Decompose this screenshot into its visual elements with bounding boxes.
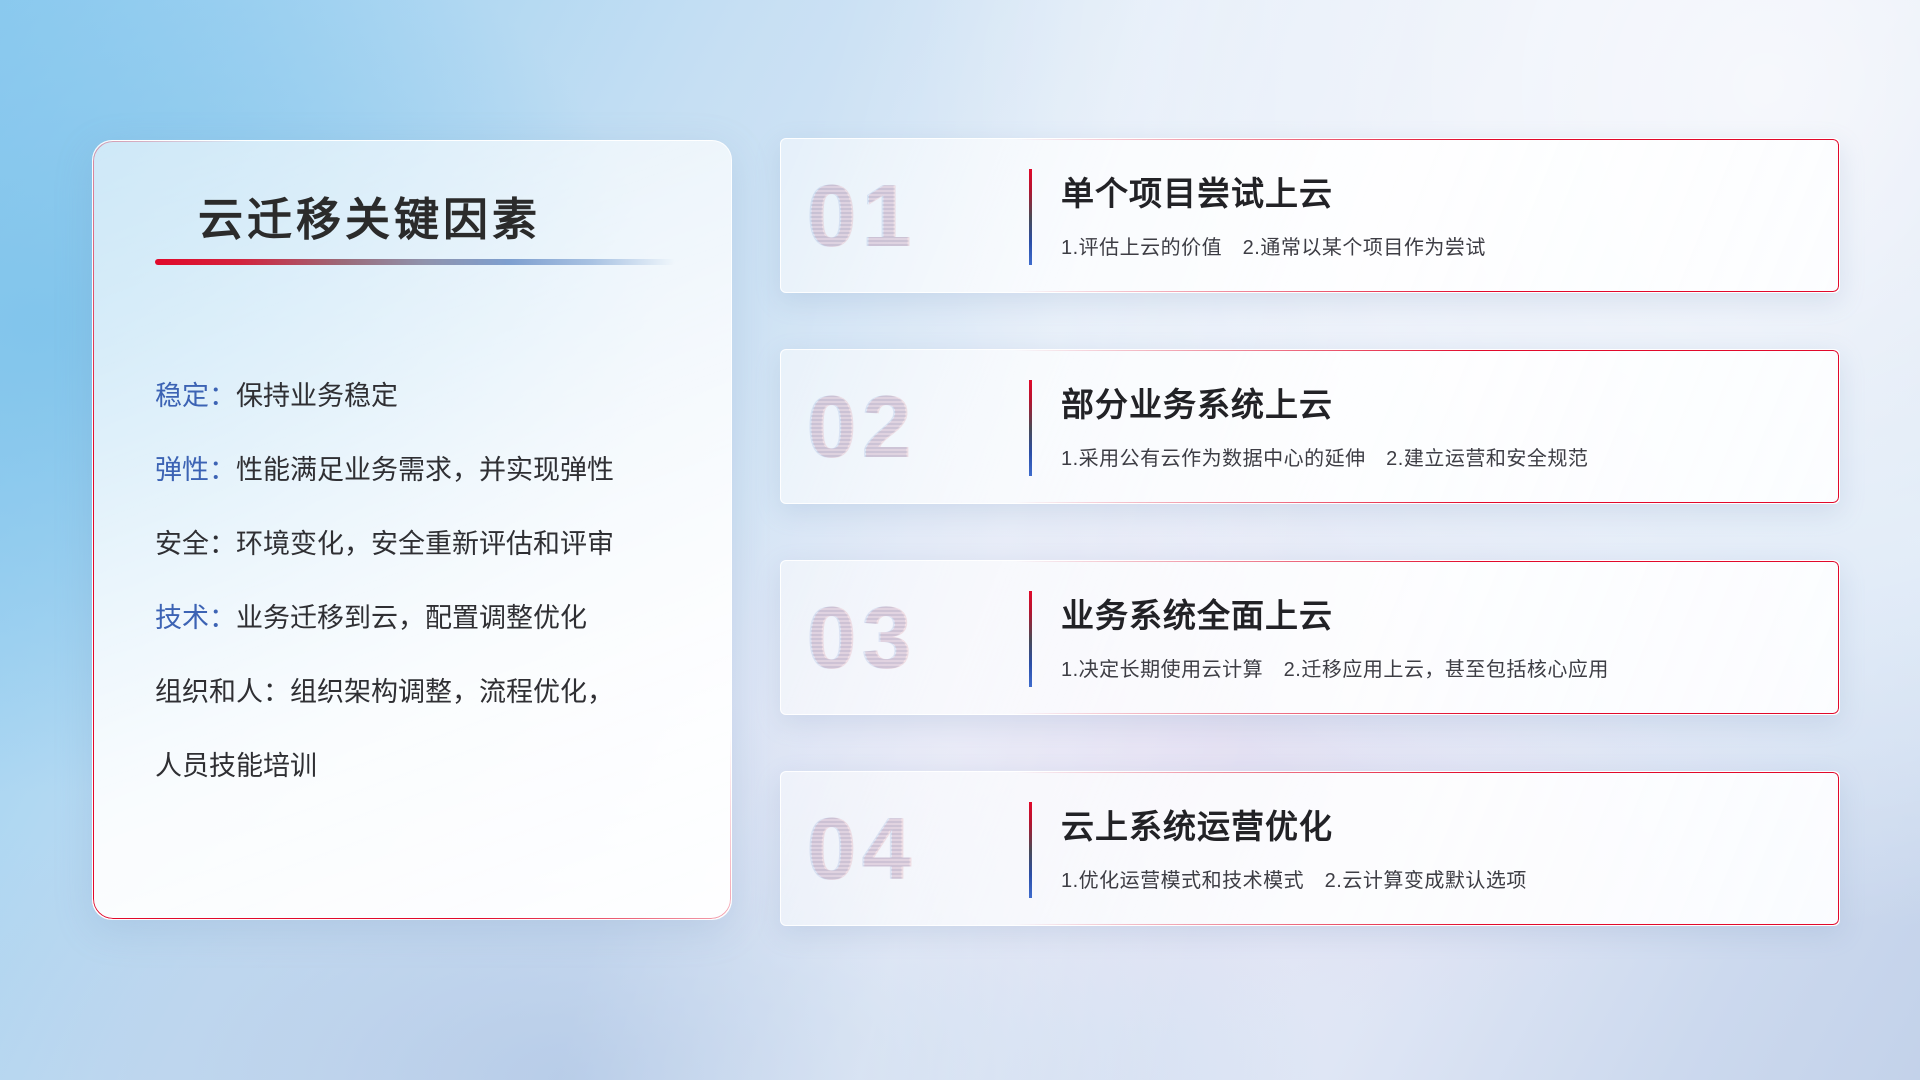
stage-number: 04 <box>807 805 917 893</box>
card-description: 1.评估上云的价值 2.通常以某个项目作为尝试 <box>1061 231 1813 260</box>
card-title: 部分业务系统上云 <box>1061 378 1813 426</box>
card-description: 1.优化运营模式和技术模式 2.云计算变成默认选项 <box>1061 864 1813 893</box>
key-factors-panel: 云迁移关键因素 稳定：保持业务稳定 弹性：性能满足业务需求，并实现弹性 安全：环… <box>92 140 732 920</box>
list-item: 组织和人：组织架构调整，流程优化， <box>155 655 697 729</box>
list-item: 稳定：保持业务稳定 <box>155 359 697 433</box>
card-body: 单个项目尝试上云 1.评估上云的价值 2.通常以某个项目作为尝试 <box>1061 167 1813 260</box>
factor-text: 保持业务稳定 <box>236 381 398 411</box>
card-divider <box>1029 802 1032 898</box>
slide-canvas: 云迁移关键因素 稳定：保持业务稳定 弹性：性能满足业务需求，并实现弹性 安全：环… <box>0 0 1920 1080</box>
card-body: 云上系统运营优化 1.优化运营模式和技术模式 2.云计算变成默认选项 <box>1061 800 1813 893</box>
card-title: 单个项目尝试上云 <box>1061 167 1813 215</box>
factor-label: 弹性： <box>155 455 236 485</box>
card-divider <box>1029 591 1032 687</box>
factor-text: 业务迁移到云，配置调整优化 <box>236 603 587 633</box>
card-title: 云上系统运营优化 <box>1061 800 1813 848</box>
stage-number: 01 <box>807 172 917 260</box>
factor-label: 组织和人： <box>155 677 290 707</box>
card-title: 业务系统全面上云 <box>1061 589 1813 637</box>
factor-label: 技术： <box>155 603 236 633</box>
factor-text: 环境变化，安全重新评估和评审 <box>236 529 614 559</box>
migration-stage-card-list: 01 01 单个项目尝试上云 1.评估上云的价值 2.通常以某个项目作为尝试 0… <box>780 138 1840 982</box>
card-divider <box>1029 169 1032 265</box>
factor-label: 安全： <box>155 529 236 559</box>
card-description: 1.决定长期使用云计算 2.迁移应用上云，甚至包括核心应用 <box>1061 653 1813 682</box>
list-item: 技术：业务迁移到云，配置调整优化 <box>155 581 697 655</box>
list-item[interactable]: 02 02 部分业务系统上云 1.采用公有云作为数据中心的延伸 2.建立运营和安… <box>780 349 1840 504</box>
list-item[interactable]: 01 01 单个项目尝试上云 1.评估上云的价值 2.通常以某个项目作为尝试 <box>780 138 1840 293</box>
card-description: 1.采用公有云作为数据中心的延伸 2.建立运营和安全规范 <box>1061 442 1813 471</box>
factor-text: 人员技能培训 <box>155 751 317 781</box>
list-item: 人员技能培训 <box>155 729 697 803</box>
factor-text: 组织架构调整，流程优化， <box>290 677 614 707</box>
list-item[interactable]: 03 03 业务系统全面上云 1.决定长期使用云计算 2.迁移应用上云，甚至包括… <box>780 560 1840 715</box>
factor-list: 稳定：保持业务稳定 弹性：性能满足业务需求，并实现弹性 安全：环境变化，安全重新… <box>155 359 697 803</box>
page-title: 云迁移关键因素 <box>198 183 541 248</box>
factor-text: 性能满足业务需求，并实现弹性 <box>236 455 614 485</box>
list-item[interactable]: 04 04 云上系统运营优化 1.优化运营模式和技术模式 2.云计算变成默认选项 <box>780 771 1840 926</box>
card-body: 部分业务系统上云 1.采用公有云作为数据中心的延伸 2.建立运营和安全规范 <box>1061 378 1813 471</box>
factor-label: 稳定： <box>155 381 236 411</box>
list-item: 弹性：性能满足业务需求，并实现弹性 <box>155 433 697 507</box>
title-underline-rule <box>155 259 675 265</box>
list-item: 安全：环境变化，安全重新评估和评审 <box>155 507 697 581</box>
stage-number: 03 <box>807 594 917 682</box>
stage-number: 02 <box>807 383 917 471</box>
card-body: 业务系统全面上云 1.决定长期使用云计算 2.迁移应用上云，甚至包括核心应用 <box>1061 589 1813 682</box>
card-divider <box>1029 380 1032 476</box>
